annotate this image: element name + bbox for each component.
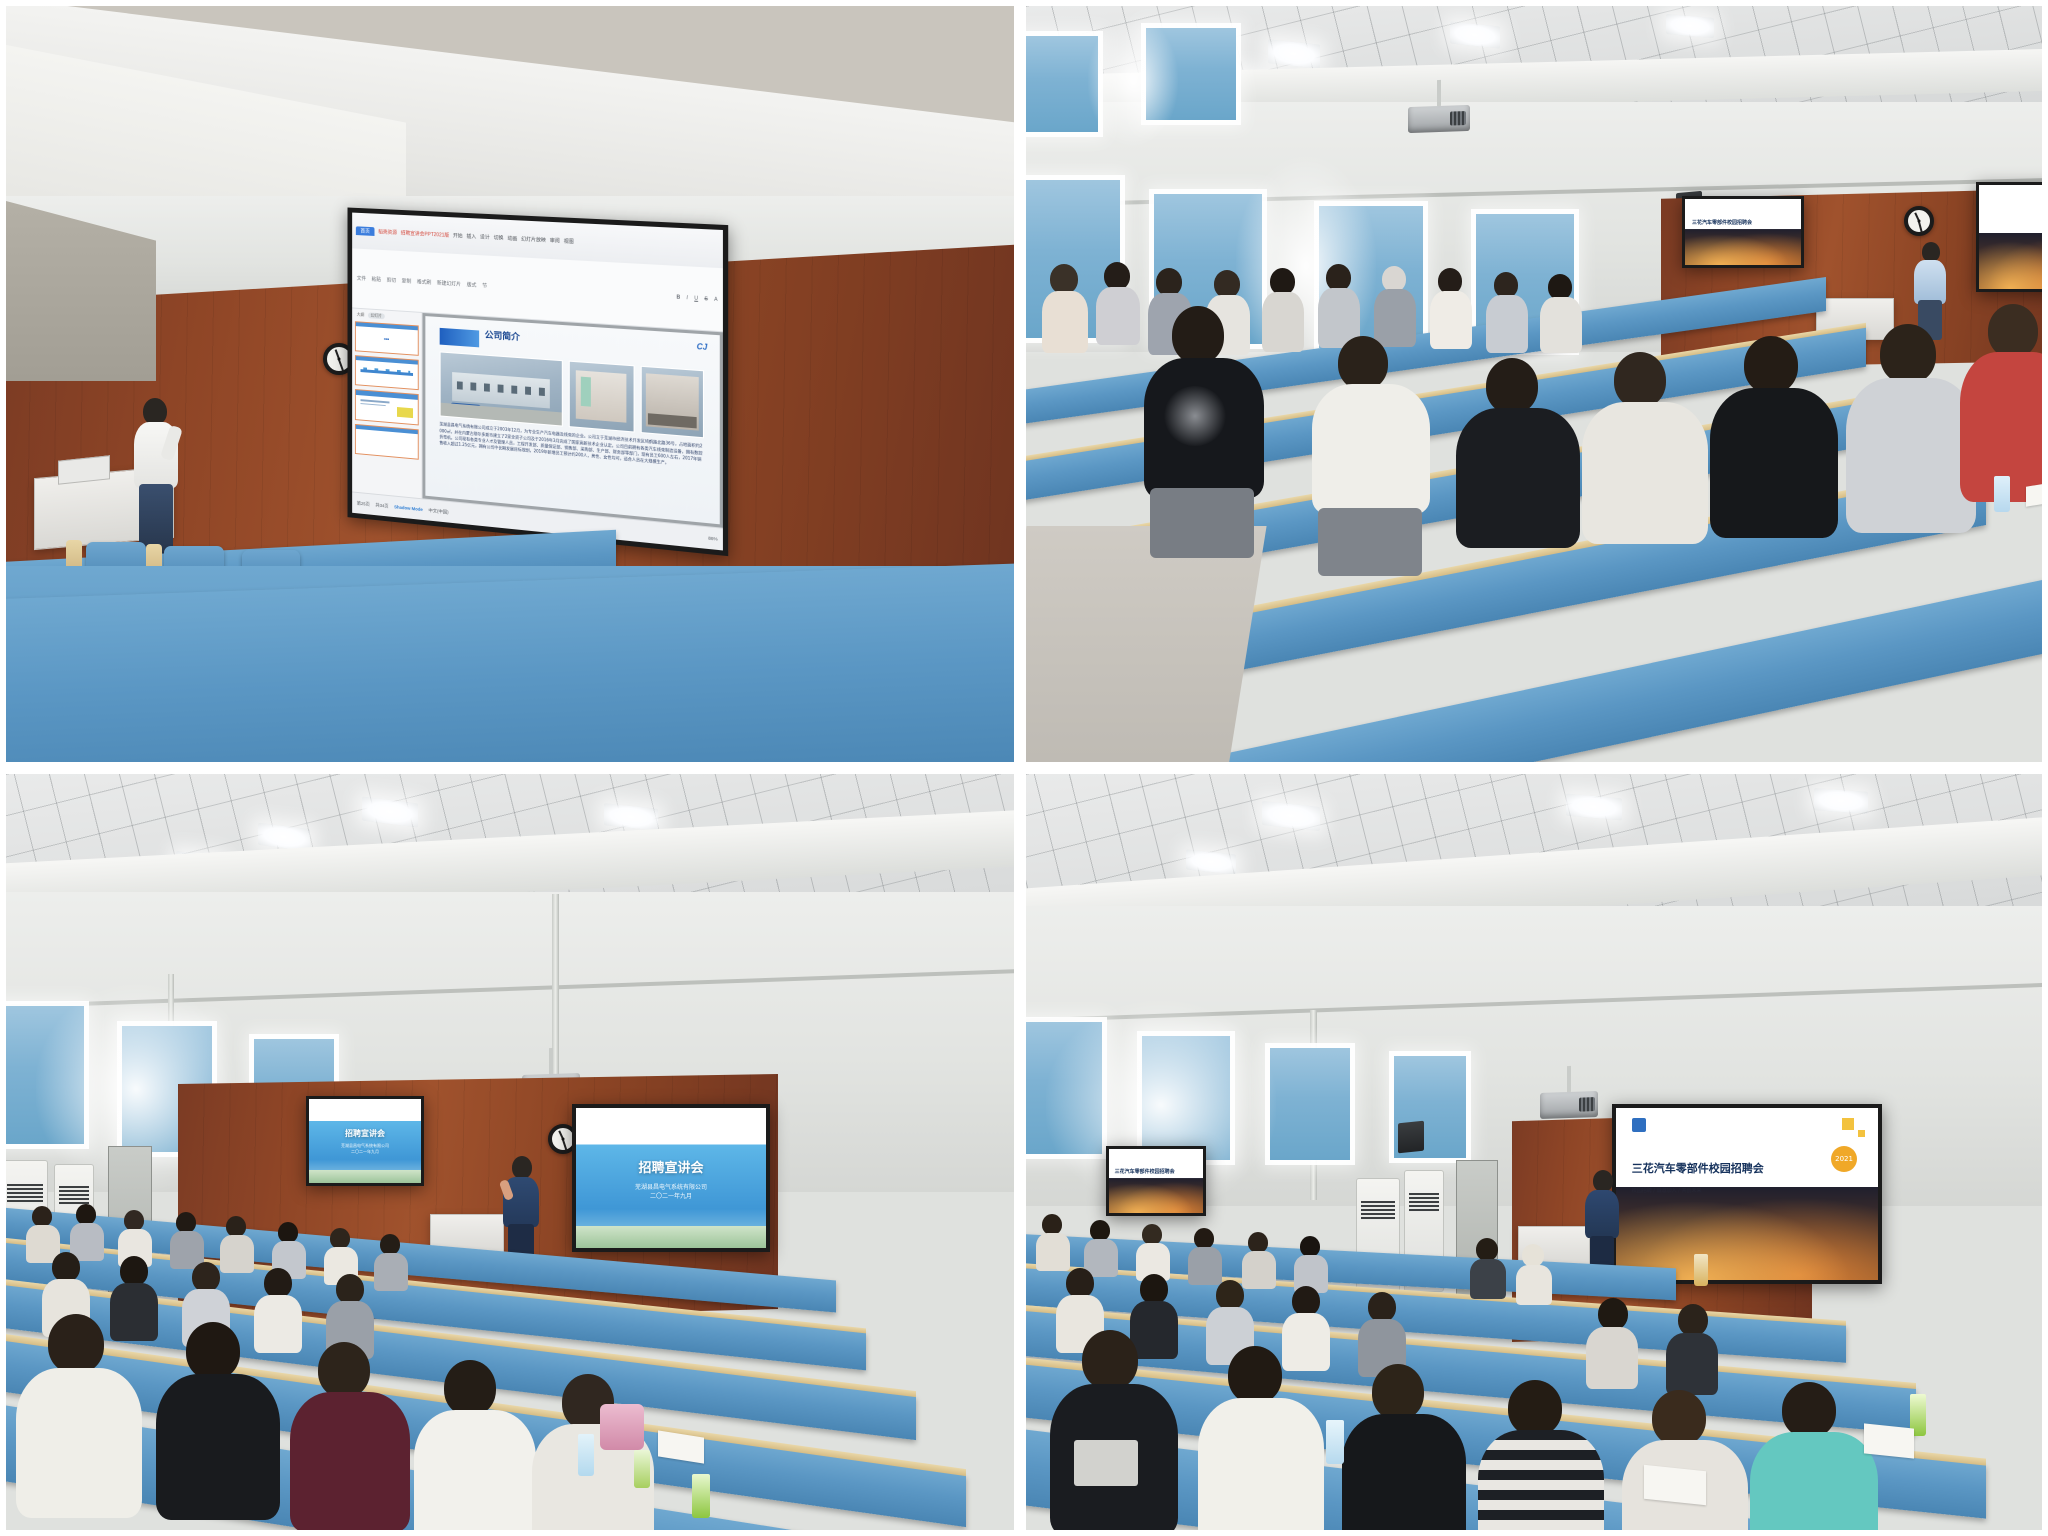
presenter-head (1593, 1170, 1613, 1192)
support-pole (552, 894, 559, 1084)
tab-home[interactable]: 首页 (356, 226, 375, 236)
tab-design[interactable]: 设计 (480, 234, 490, 241)
presenter-torso (1585, 1190, 1619, 1238)
outline-tab[interactable]: 大纲 (357, 312, 364, 318)
tab-review[interactable]: 审阅 (550, 237, 560, 245)
projection-screen: 首页 稻壳资源 招聘宣讲会PPT2021版 开始 插入 设计 切换 动画 幻灯片… (348, 208, 729, 557)
wps-office-window: 首页 稻壳资源 招聘宣讲会PPT2021版 开始 插入 设计 切换 动画 幻灯片… (352, 213, 723, 551)
recruitment-slide: 招聘宣讲会 芜湖县昌电气系统有限公司 二〇二一年九月 (309, 1099, 421, 1183)
paper-sheet (1864, 1423, 1914, 1458)
slide-thumb[interactable]: ■■■ (355, 321, 419, 356)
audience-member-foreground (1198, 1346, 1324, 1536)
audience-member (1666, 1304, 1718, 1394)
slide-subtitle-date: 二〇二一年九月 (351, 1149, 379, 1155)
presenter-torso (1914, 260, 1946, 304)
photo-top-left: 首页 稻壳资源 招聘宣讲会PPT2021版 开始 插入 设计 切换 动画 幻灯片… (0, 0, 1020, 768)
italic-button[interactable]: I (687, 295, 688, 301)
audience-member-foreground (1710, 336, 1838, 576)
tab-animation[interactable]: 动画 (507, 235, 517, 242)
water-bottle (1694, 1254, 1708, 1286)
audience-member-foreground (16, 1314, 142, 1536)
audience-member (1294, 1236, 1328, 1292)
tab-slideshow[interactable]: 幻灯片放映 (521, 236, 546, 244)
tab-insert[interactable]: 插入 (466, 233, 476, 240)
slide-title: 招聘宣讲会 (345, 1128, 385, 1139)
ceiling-light (1814, 788, 1868, 814)
decor-square (1858, 1130, 1865, 1137)
ceiling-projector (1540, 1091, 1598, 1119)
slide-photo-corridor (640, 366, 704, 438)
audience-member (1136, 1224, 1170, 1280)
city-slide: 三花汽车零部件校园招聘会 校园招聘 / 诚邀加入 / 共创未来 2021 (1616, 1108, 1878, 1280)
audience-member-foreground (1582, 352, 1708, 582)
recruitment-slide: 招聘宣讲会 芜湖县昌电气系统有限公司 二〇二一年九月 (576, 1108, 766, 1248)
audience-member (1430, 268, 1472, 350)
slide-thumb[interactable] (355, 389, 419, 425)
screen-surface: 三花汽车零部件校园招聘会 校园招聘 / 诚邀加入 / 共创未来 2021 (1616, 1108, 1878, 1280)
audience-member-foreground (290, 1342, 410, 1536)
ribbon-copy[interactable]: 复制 (402, 278, 411, 285)
slide-title: 三花汽车零部件校园招聘会 (1632, 1160, 1764, 1176)
slide-photo-factory (439, 351, 563, 426)
company-logo-mark (1632, 1118, 1646, 1132)
audience-member (1188, 1228, 1222, 1284)
slide-title: 三花汽车零部件校园招聘会 (1692, 219, 1752, 226)
audience-member (1470, 1238, 1506, 1298)
slide-thumbnail-panel[interactable]: 大纲 幻灯片 ■■■ (352, 309, 422, 499)
slide-title-accent (439, 328, 479, 347)
presenter (131, 398, 183, 553)
audience-member-foreground (1456, 358, 1580, 588)
screen-surface: 三花汽车零部件校园招聘会 (1109, 1149, 1203, 1213)
slide-thumb[interactable] (355, 423, 419, 459)
window-blind (1142, 1036, 1230, 1160)
bold-button[interactable]: B (677, 294, 681, 300)
slide-title: 招聘宣讲会 (638, 1157, 703, 1176)
paper-sheet (2026, 481, 2048, 506)
screen-surface (1979, 185, 2048, 289)
audience-member-foreground (1312, 336, 1430, 576)
audience-member (374, 1234, 408, 1290)
handbag (600, 1404, 644, 1450)
city-slide: 三花汽车零部件校园招聘会 (1685, 199, 1801, 265)
slide-photo-interior (569, 361, 634, 433)
city-slide (1979, 185, 2048, 289)
photo-bottom-left: 招聘宣讲会 芜湖县昌电气系统有限公司 二〇二一年九月 招聘宣讲会 芜湖县昌电气系… (0, 768, 1020, 1536)
projection-screen-left: 三花汽车零部件校园招聘会 (1106, 1146, 1206, 1216)
water-bottle (692, 1474, 710, 1518)
window-blind (0, 1006, 84, 1144)
window-blind (1020, 36, 1098, 132)
screen-surface: 招聘宣讲会 芜湖县昌电气系统有限公司 二〇二一年九月 (576, 1108, 766, 1248)
water-bottle (1994, 476, 2010, 512)
ribbon-new-slide[interactable]: 新建幻灯片 (437, 280, 461, 288)
audience-member (1262, 268, 1304, 352)
audience-member (170, 1212, 204, 1268)
audience-member-foreground (1342, 1364, 1466, 1536)
water-bottle (634, 1450, 650, 1488)
slide-subtitle-company: 芜湖县昌电气系统有限公司 (635, 1182, 707, 1191)
photo-collage: 首页 稻壳资源 招聘宣讲会PPT2021版 开始 插入 设计 切换 动画 幻灯片… (0, 0, 2048, 1536)
audience-member (1516, 1244, 1552, 1304)
ribbon-paste[interactable]: 粘贴 (372, 276, 381, 283)
audience-member (1586, 1298, 1638, 1388)
audience-member-foreground (1750, 1382, 1878, 1536)
window-blind (1146, 28, 1236, 120)
ribbon-layout[interactable]: 版式 (467, 281, 477, 288)
ribbon-file[interactable]: 文件 (357, 275, 366, 282)
status-page-current: 第25页 (357, 500, 370, 507)
audience-member-foreground (1144, 306, 1264, 556)
water-bottle (578, 1434, 594, 1476)
slide-title: 公司简介 (485, 327, 520, 342)
tab-start[interactable]: 开始 (453, 232, 463, 239)
photo-top-right: 三花汽车零部件校园招聘会 (1020, 0, 2048, 768)
slides-tab[interactable]: 幻灯片 (368, 313, 385, 320)
ribbon-cut[interactable]: 剪切 (387, 277, 396, 284)
strike-button[interactable]: S (704, 296, 708, 302)
font-color-button[interactable]: A (714, 296, 718, 302)
audience-member-foreground (1050, 1330, 1178, 1536)
ceiling-light (1666, 14, 1714, 38)
audience-member-foreground (1622, 1390, 1748, 1536)
underline-button[interactable]: U (694, 295, 698, 301)
projection-screen-right: 三花汽车零部件校园招聘会 校园招聘 / 诚邀加入 / 共创未来 2021 (1612, 1104, 1882, 1284)
audience-member (1040, 264, 1090, 354)
tab-transition[interactable]: 切换 (494, 234, 504, 241)
slide-canvas[interactable]: 公司简介 CJ (423, 313, 723, 528)
audience-member-foreground (1846, 324, 1976, 574)
projection-screen-left: 招聘宣讲会 芜湖县昌电气系统有限公司 二〇二一年九月 (306, 1096, 424, 1186)
company-logo: CJ (697, 341, 708, 351)
current-slide: 公司简介 CJ (425, 316, 719, 524)
audience-member-foreground (156, 1322, 280, 1536)
photo-bottom-right: 三花汽车零部件校园招聘会 三花汽车零部件校园招聘会 校园招聘 / 诚邀加入 / … (1020, 768, 2048, 1536)
decor-square (1842, 1118, 1854, 1130)
wall-speaker (1398, 1121, 1424, 1154)
projection-screen-left: 三花汽车零部件校园招聘会 (1682, 196, 1804, 268)
window-blind (1020, 1022, 1102, 1154)
presenter-head (512, 1156, 532, 1179)
status-page-total: 共34页 (375, 502, 388, 509)
front-desk-2 (0, 563, 1020, 768)
tab-view[interactable]: 视图 (564, 238, 574, 246)
ribbon-section[interactable]: 节 (482, 282, 487, 289)
slide-title: 三花汽车零部件校园招聘会 (1115, 1168, 1175, 1175)
audience-member-foreground (1478, 1380, 1604, 1536)
status-shadow-mode[interactable]: Shadow Mode (394, 505, 423, 513)
audience-member (1036, 1214, 1070, 1270)
water-bottle (1326, 1420, 1344, 1464)
audience-member (1486, 272, 1528, 354)
status-zoom-level[interactable]: 86% (708, 536, 717, 542)
city-slide: 三花汽车零部件校园招聘会 (1109, 1149, 1203, 1213)
tab-docer[interactable]: 稻壳资源 (378, 228, 397, 236)
presenter (1582, 1170, 1622, 1270)
wps-body: 大纲 幻灯片 ■■■ (352, 309, 723, 528)
screen-surface: 招聘宣讲会 芜湖县昌电气系统有限公司 二〇二一年九月 (309, 1099, 421, 1183)
paper-sheet (1644, 1465, 1706, 1506)
projection-screen-right (1976, 182, 2048, 292)
slide-thumb[interactable] (355, 355, 419, 390)
year-badge: 2021 (1831, 1146, 1857, 1172)
status-language[interactable]: 中文(中国) (428, 507, 448, 515)
wall-clock (1904, 206, 1934, 236)
ribbon-format-painter[interactable]: 格式刷 (417, 278, 431, 286)
tab-document[interactable]: 招聘宣讲会PPT2021版 (401, 230, 449, 239)
audience-member-foreground (414, 1360, 536, 1536)
window-blind (1270, 1048, 1350, 1160)
audience-member (1096, 262, 1140, 346)
screen-surface: 首页 稻壳资源 招聘宣讲会PPT2021版 开始 插入 设计 切换 动画 幻灯片… (352, 213, 723, 551)
ceiling-projector (1408, 105, 1470, 133)
audience-member (1540, 274, 1582, 354)
presenter (500, 1156, 542, 1260)
presenter-head (1922, 242, 1940, 262)
projection-screen-right: 招聘宣讲会 芜湖县昌电气系统有限公司 二〇二一年九月 (572, 1104, 770, 1252)
slide-subtitle-date: 二〇二一年九月 (650, 1191, 692, 1200)
aisle-floor (1020, 526, 1267, 768)
screen-surface: 三花汽车零部件校园招聘会 (1685, 199, 1801, 265)
presenter-head (143, 398, 167, 425)
